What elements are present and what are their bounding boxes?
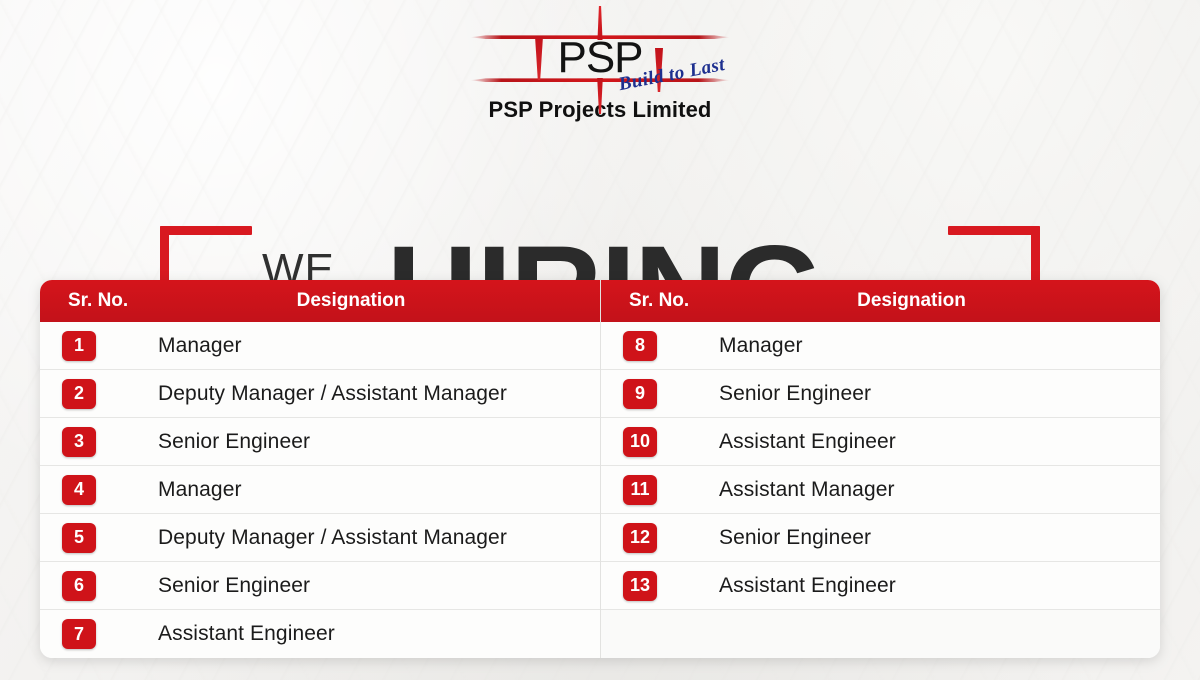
cell-sr-no: 5 [40,523,158,553]
table-row[interactable]: 13 Assistant Engineer [601,562,1160,610]
positions-tables: Sr. No. Designation 1 Manager 2 Deputy M… [40,280,1160,658]
cell-sr-no: 3 [40,427,158,457]
cell-designation: Deputy Manager / Assistant Manager [158,526,600,550]
cell-sr-no: 6 [40,571,158,601]
table-header-right: Sr. No. Designation [601,280,1160,322]
column-header-designation: Designation [719,290,1160,312]
cell-designation: Manager [158,478,600,502]
cell-sr-no: 11 [601,475,719,505]
logo-spike-left-icon [534,36,544,80]
cell-designation: Assistant Engineer [719,430,1160,454]
sr-no-badge: 8 [623,331,657,361]
table-row[interactable]: 11 Assistant Manager [601,466,1160,514]
sr-no-badge: 10 [623,427,657,457]
cell-designation: Assistant Engineer [158,622,600,646]
cell-designation: Senior Engineer [719,526,1160,550]
cell-sr-no: 13 [601,571,719,601]
table-row[interactable]: 12 Senior Engineer [601,514,1160,562]
cell-sr-no: 9 [601,379,719,409]
sr-no-badge: 1 [62,331,96,361]
table-row[interactable]: 3 Senior Engineer [40,418,600,466]
table-row[interactable]: 10 Assistant Engineer [601,418,1160,466]
cell-designation: Senior Engineer [158,574,600,598]
sr-no-badge: 11 [623,475,657,505]
table-row[interactable]: 2 Deputy Manager / Assistant Manager [40,370,600,418]
cell-sr-no: 8 [601,331,719,361]
sr-no-badge: 5 [62,523,96,553]
cell-designation: Manager [158,334,600,358]
cell-sr-no: 4 [40,475,158,505]
headline-area: WE ARE HIRING [0,108,1200,270]
cell-designation: Assistant Manager [719,478,1160,502]
table-row[interactable]: 9 Senior Engineer [601,370,1160,418]
column-header-sr-no: Sr. No. [601,290,719,312]
sr-no-badge: 12 [623,523,657,553]
table-row [601,610,1160,658]
psp-logo-mark: PSP Build to Last [470,8,730,93]
sr-no-badge: 6 [62,571,96,601]
table-row[interactable]: 1 Manager [40,322,600,370]
sr-no-badge: 9 [623,379,657,409]
cell-designation: Deputy Manager / Assistant Manager [158,382,600,406]
sr-no-badge: 2 [62,379,96,409]
cell-designation: Manager [719,334,1160,358]
cell-sr-no: 10 [601,427,719,457]
table-row[interactable]: 6 Senior Engineer [40,562,600,610]
brand-logo-block: PSP Build to Last PSP Projects Limited [0,8,1200,123]
positions-table-left: Sr. No. Designation 1 Manager 2 Deputy M… [40,280,600,658]
cell-sr-no: 2 [40,379,158,409]
table-row[interactable]: 8 Manager [601,322,1160,370]
cell-sr-no: 12 [601,523,719,553]
cell-sr-no: 1 [40,331,158,361]
table-header-left: Sr. No. Designation [40,280,600,322]
cell-sr-no: 7 [40,619,158,649]
cell-designation: Senior Engineer [719,382,1160,406]
sr-no-badge: 3 [62,427,96,457]
positions-table-right: Sr. No. Designation 8 Manager 9 Senior E… [600,280,1160,658]
cell-designation: Senior Engineer [158,430,600,454]
column-header-designation: Designation [158,290,600,312]
table-row[interactable]: 4 Manager [40,466,600,514]
column-header-sr-no: Sr. No. [40,290,158,312]
sr-no-badge: 7 [62,619,96,649]
sr-no-badge: 13 [623,571,657,601]
cell-designation: Assistant Engineer [719,574,1160,598]
sr-no-badge: 4 [62,475,96,505]
table-row[interactable]: 5 Deputy Manager / Assistant Manager [40,514,600,562]
table-row[interactable]: 7 Assistant Engineer [40,610,600,658]
